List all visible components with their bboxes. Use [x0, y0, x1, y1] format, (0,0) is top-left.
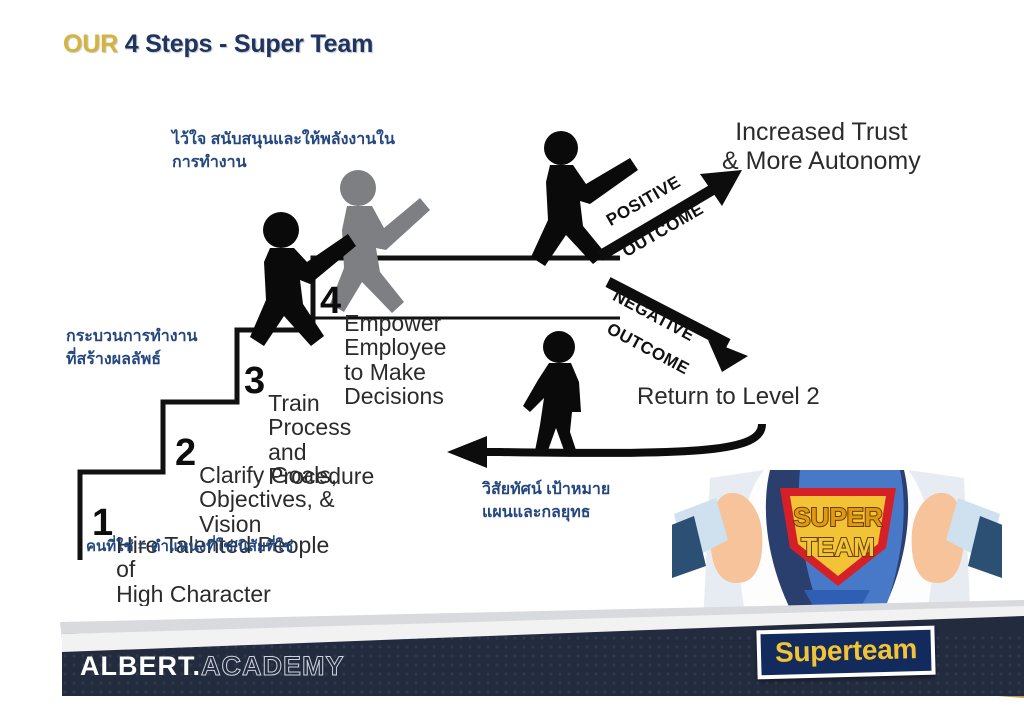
shield-text-team: TEAM: [801, 532, 875, 562]
step-2-number: 2: [175, 436, 196, 471]
annotation-process-results: กระบวนการทำงาน ที่สร้างผลลัพธ์: [66, 325, 197, 371]
logo-outline-text: ACADEMY: [201, 651, 345, 681]
page-title: OUR 4 Steps - Super Team: [63, 30, 373, 59]
walking-back-figure: [523, 331, 581, 456]
annotation-right-person: คนที่ใช่ = ตำแหน่งที่ใช่/นิสัยที่ใช่: [86, 536, 293, 558]
slide-canvas: OUR 4 Steps - Super Team: [0, 0, 1024, 725]
superteam-badge-label: Superteam: [775, 633, 918, 668]
annotation-trust-support: ไว้ใจ สนับสนุนและให้พลังงานใน การทำงาน: [172, 128, 395, 174]
logo-bold-text: ALBERT.: [80, 651, 201, 681]
title-rest: 4 Steps - Super Team: [118, 30, 373, 58]
shield-text-super: SUPER: [793, 502, 883, 532]
title-highlight: OUR: [63, 30, 118, 58]
step-4-number: 4: [320, 284, 341, 319]
superteam-badge: Superteam: [756, 626, 935, 680]
step-3-number: 3: [244, 364, 265, 399]
annotation-vision-goals: วิสัยทัศน์ เป้าหมาย แผนและกลยุทธ: [482, 478, 610, 524]
negative-result-text: Return to Level 2: [637, 383, 820, 411]
positive-result-text: Increased Trust & More Autonomy: [722, 118, 921, 176]
albert-academy-logo: ALBERT.ACADEMY: [80, 651, 345, 682]
